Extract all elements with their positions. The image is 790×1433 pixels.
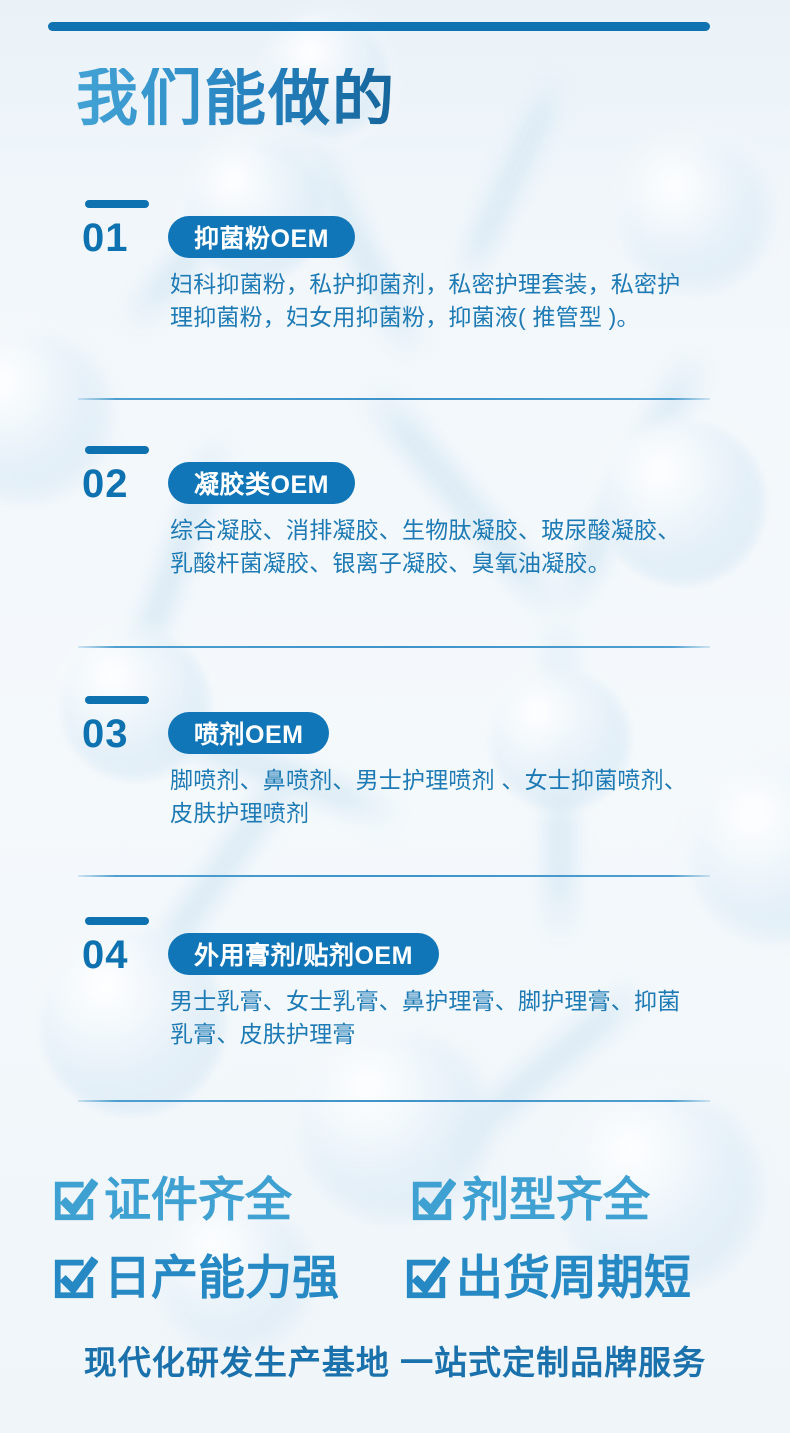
- feature-label: 剂型齐全: [462, 1176, 650, 1223]
- section-dash: [85, 200, 149, 208]
- molecule-node: [690, 760, 790, 940]
- section-dash: [85, 917, 149, 925]
- checkbox-check-icon: [410, 1177, 456, 1223]
- section-description: 妇科抑菌粉，私护抑菌剂，私密护理套装，私密护理抑菌粉，妇女用抑菌粉，抑菌液( 推…: [170, 268, 702, 335]
- section-number: 02: [82, 464, 129, 504]
- section-description: 综合凝胶、消排凝胶、生物肽凝胶、玻尿酸凝胶、乳酸杆菌凝胶、银离子凝胶、臭氧油凝胶…: [170, 514, 702, 581]
- section-number: 01: [82, 218, 129, 258]
- feature-item-lead-time: 出货周期短: [404, 1254, 691, 1301]
- top-rule: [48, 22, 710, 31]
- molecule-node: [60, 630, 210, 780]
- section-number: 04: [82, 935, 129, 975]
- section-number: 03: [82, 714, 129, 754]
- section-divider: [78, 1100, 710, 1102]
- molecule-bond: [546, 344, 715, 624]
- feature-label: 证件齐全: [104, 1176, 292, 1223]
- section-pill-label[interactable]: 凝胶类OEM: [168, 462, 355, 504]
- section-description: 男士乳膏、女士乳膏、鼻护理膏、脚护理膏、抑菌乳膏、皮肤护理膏: [170, 985, 702, 1052]
- feature-item-certificates: 证件齐全: [52, 1176, 292, 1223]
- checkbox-check-icon: [52, 1255, 98, 1301]
- section-dash: [85, 446, 149, 454]
- section-pill-label[interactable]: 外用膏剂/贴剂OEM: [168, 933, 439, 975]
- feature-label: 出货周期短: [456, 1254, 691, 1301]
- promo-page: 我们能做的 01 抑菌粉OEM 妇科抑菌粉，私护抑菌剂，私密护理套装，私密护理抑…: [0, 0, 790, 1433]
- checkbox-check-icon: [404, 1255, 450, 1301]
- section-pill-label[interactable]: 喷剂OEM: [168, 712, 329, 754]
- checkbox-check-icon: [52, 1177, 98, 1223]
- section-divider: [78, 646, 710, 648]
- feature-item-daily-capacity: 日产能力强: [52, 1254, 339, 1301]
- page-title: 我们能做的: [76, 68, 396, 130]
- molecule-bond: [450, 68, 573, 288]
- footer-tagline: 现代化研发生产基地 一站式定制品牌服务: [0, 1336, 790, 1384]
- section-divider: [78, 398, 710, 400]
- molecule-bond: [355, 376, 572, 626]
- section-dash: [85, 696, 149, 704]
- molecule-node: [186, 140, 326, 280]
- section-divider: [78, 875, 710, 877]
- section-description: 脚喷剂、鼻喷剂、男士护理喷剂 、女士抑菌喷剂、皮肤护理喷剂: [170, 764, 702, 831]
- section-pill-label[interactable]: 抑菌粉OEM: [168, 216, 355, 258]
- feature-label: 日产能力强: [104, 1254, 339, 1301]
- feature-item-dosage-forms: 剂型齐全: [410, 1176, 650, 1223]
